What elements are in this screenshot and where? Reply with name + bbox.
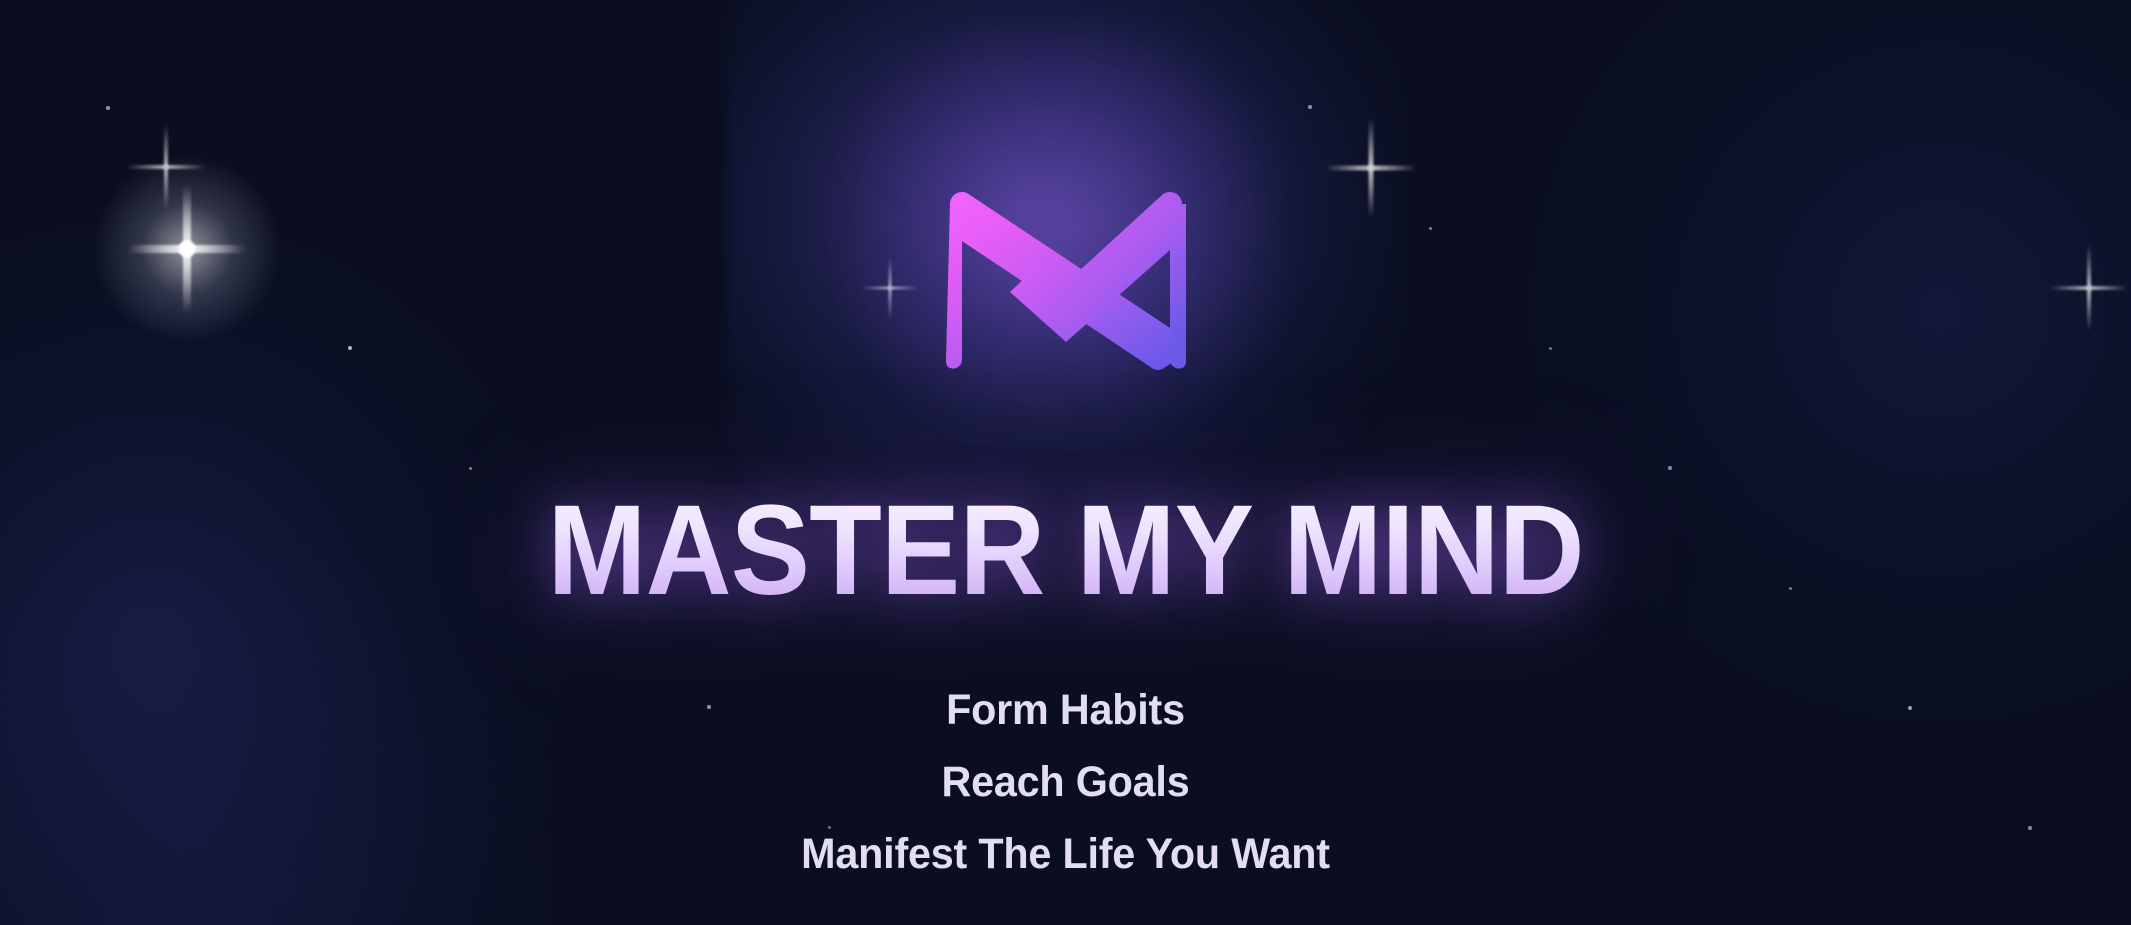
star-dot: [1668, 466, 1672, 470]
star-sparkle-icon: [859, 257, 921, 319]
star-dot: [348, 346, 353, 351]
tagline-line-3: Manifest The Life You Want: [43, 818, 2089, 890]
background-nebula-right: [1491, 0, 2131, 760]
star-sparkle-icon: [2046, 245, 2131, 331]
star-dot: [469, 467, 472, 470]
star-sparkle-icon: [1321, 118, 1421, 218]
app-logo-icon: [946, 188, 1186, 374]
app-splash-screen: MASTER MY MIND Form Habits Reach Goals M…: [0, 0, 2131, 925]
star-dot: [1308, 105, 1312, 109]
star-sparkle-icon: [123, 124, 209, 210]
tagline-line-1: Form Habits: [43, 674, 2089, 746]
star-sparkle-icon: [123, 185, 251, 313]
page-title: MASTER MY MIND: [75, 487, 2057, 615]
star-dot: [106, 106, 110, 110]
tagline-block: Form Habits Reach Goals Manifest The Lif…: [0, 674, 2131, 890]
tagline-line-2: Reach Goals: [43, 746, 2089, 818]
star-dot: [1549, 347, 1552, 350]
m-monogram-icon: [946, 188, 1186, 374]
star-dot: [1429, 227, 1432, 230]
